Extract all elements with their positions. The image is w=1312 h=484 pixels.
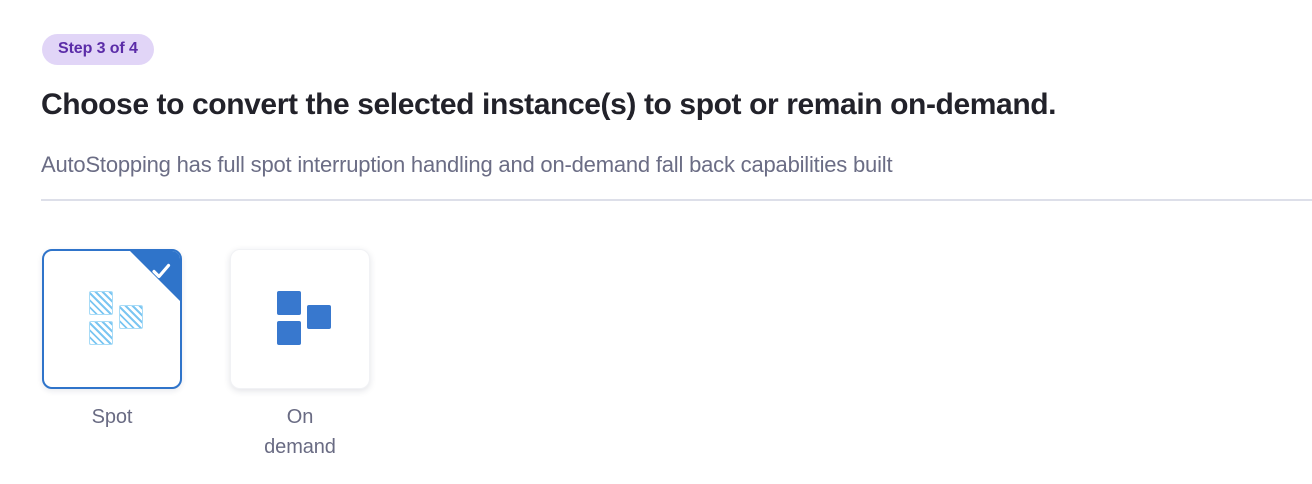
step-badge: Step 3 of 4 [42, 34, 154, 65]
option-cell-on-demand: On demand [230, 249, 370, 462]
square-middle-right [119, 305, 143, 329]
three-squares-hatched-icon [81, 291, 143, 347]
option-label-spot: Spot [64, 402, 160, 432]
spot-conversion-step-page: Step 3 of 4 Choose to convert the select… [0, 0, 1312, 484]
step-indicator: Step 3 of 4 [42, 34, 154, 65]
square-middle-right [307, 305, 331, 329]
instance-type-option-group: Spot On demand [42, 249, 370, 462]
check-icon [149, 259, 173, 288]
option-label-on-demand: On demand [252, 402, 348, 462]
square-top-left [89, 291, 113, 315]
square-top-left [277, 291, 301, 315]
option-card-spot[interactable] [42, 249, 182, 389]
square-bottom-left [89, 321, 113, 345]
header-divider [41, 199, 1312, 201]
page-subtitle: AutoStopping has full spot interruption … [41, 151, 892, 180]
option-cell-spot: Spot [42, 249, 182, 432]
page-title: Choose to convert the selected instance(… [41, 86, 1056, 124]
option-card-on-demand[interactable] [230, 249, 370, 389]
square-bottom-left [277, 321, 301, 345]
three-squares-solid-icon [269, 291, 331, 347]
